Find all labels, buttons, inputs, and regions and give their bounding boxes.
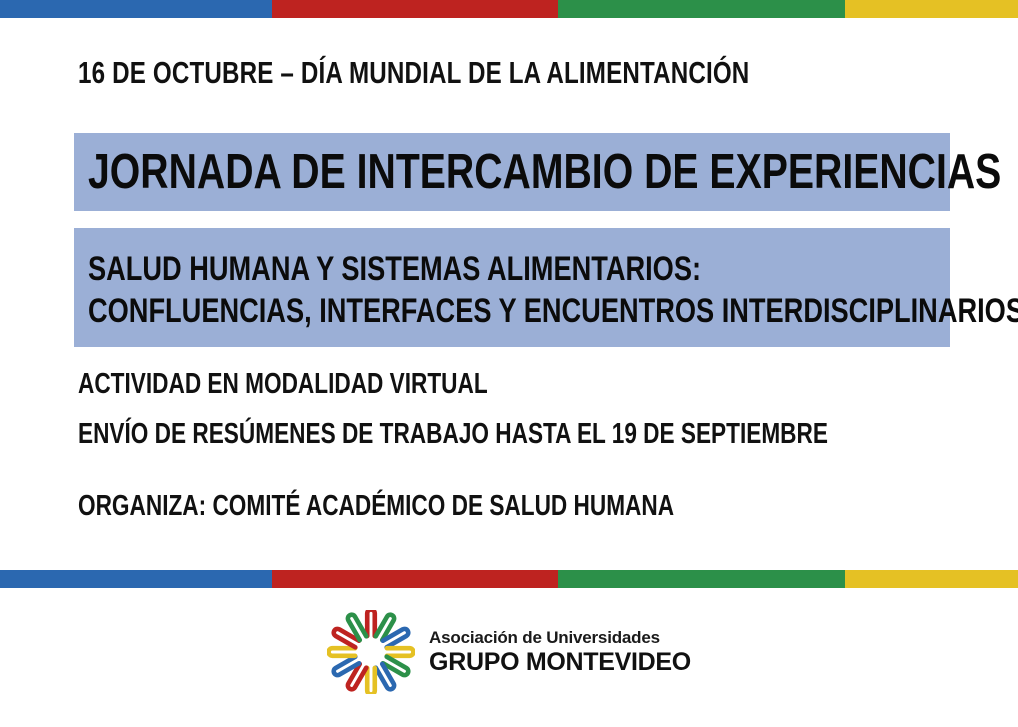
info-modality: ACTIVIDAD EN MODALIDAD VIRTUAL bbox=[78, 368, 488, 400]
rule-segment-green bbox=[558, 570, 845, 588]
rule-segment-red bbox=[272, 0, 558, 18]
rule-segment-yellow bbox=[845, 0, 1018, 18]
subtitle-band: SALUD HUMANA Y SISTEMAS ALIMENTARIOS: CO… bbox=[74, 228, 950, 347]
logo-text-block: Asociación de Universidades GRUPO MONTEV… bbox=[429, 629, 691, 675]
page-title: JORNADA DE INTERCAMBIO DE EXPERIENCIAS bbox=[88, 147, 1001, 197]
headline-band: JORNADA DE INTERCAMBIO DE EXPERIENCIAS bbox=[74, 133, 950, 211]
rule-segment-green bbox=[558, 0, 845, 18]
grupo-montevideo-sunburst-icon bbox=[327, 610, 415, 694]
logo-lockup: Asociación de Universidades GRUPO MONTEV… bbox=[327, 610, 691, 694]
subtitle-line-1: SALUD HUMANA Y SISTEMAS ALIMENTARIOS: bbox=[88, 248, 766, 290]
poster-content: 16 DE OCTUBRE – DÍA MUNDIAL DE LA ALIMEN… bbox=[0, 18, 1018, 570]
footer: Asociación de Universidades GRUPO MONTEV… bbox=[0, 600, 1018, 727]
logo-line-grupo-montevideo: GRUPO MONTEVIDEO bbox=[429, 650, 691, 675]
rule-segment-blue bbox=[0, 570, 272, 588]
event-date-line: 16 DE OCTUBRE – DÍA MUNDIAL DE LA ALIMEN… bbox=[78, 56, 749, 90]
top-color-rule-bar bbox=[0, 0, 1018, 18]
rule-segment-yellow bbox=[845, 570, 1018, 588]
rule-segment-red bbox=[272, 570, 558, 588]
info-deadline: ENVÍO DE RESÚMENES DE TRABAJO HASTA EL 1… bbox=[78, 418, 828, 450]
logo-line-association: Asociación de Universidades bbox=[429, 629, 691, 646]
bottom-color-rule-bar bbox=[0, 570, 1018, 588]
info-organizer: ORGANIZA: COMITÉ ACADÉMICO DE SALUD HUMA… bbox=[78, 490, 674, 522]
rule-segment-blue bbox=[0, 0, 272, 18]
subtitle-line-2: CONFLUENCIAS, INTERFACES Y ENCUENTROS IN… bbox=[88, 290, 766, 332]
